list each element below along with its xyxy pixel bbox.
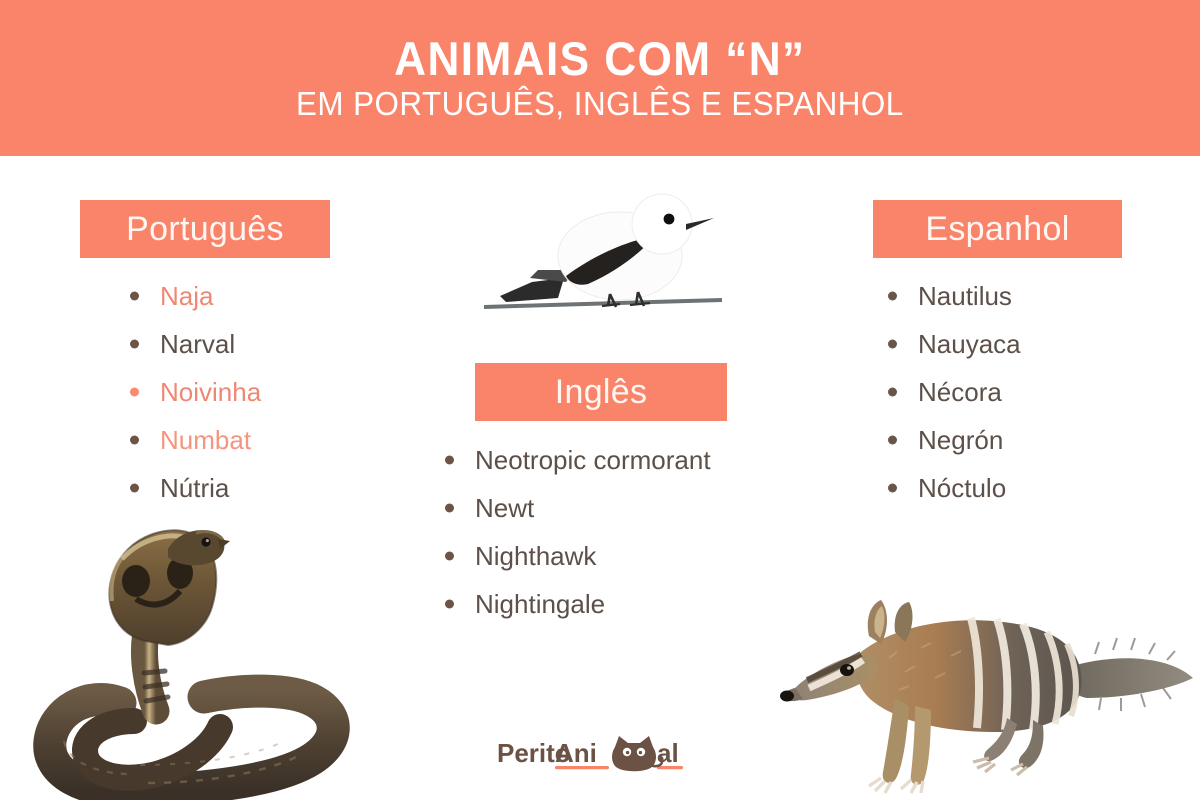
bullet-icon (445, 456, 454, 465)
white-bird-on-wire-photo (470, 178, 735, 343)
page-title: ANIMAIS COM “N” (394, 34, 805, 83)
list-item: Nútria (128, 475, 261, 501)
language-label-ingles: Inglês (475, 363, 727, 421)
numbat-photo (765, 548, 1200, 800)
bullet-icon (130, 340, 139, 349)
bullet-icon (445, 552, 454, 561)
word-label: Neotropic cormorant (475, 445, 711, 475)
cat-icon (612, 736, 662, 771)
bullet-icon (888, 340, 897, 349)
cobra-snake-photo (28, 515, 358, 800)
word-label: Nautilus (918, 281, 1012, 311)
bullet-icon (888, 436, 897, 445)
bullet-icon (445, 600, 454, 609)
list-item[interactable]: Numbat (128, 427, 261, 453)
bullet-icon (130, 436, 139, 445)
logo-text-ani: Ani (555, 738, 597, 768)
bullet-icon (888, 388, 897, 397)
list-item: Negrón (886, 427, 1021, 453)
list-item: Nautilus (886, 283, 1021, 309)
word-label: Nighthawk (475, 541, 596, 571)
list-item[interactable]: Naja (128, 283, 261, 309)
list-item[interactable]: Noivinha (128, 379, 261, 405)
infographic-page: ANIMAIS COM “N” EM PORTUGUÊS, INGLÊS E E… (0, 0, 1200, 800)
word-label: Nécora (918, 377, 1002, 407)
list-item: Narval (128, 331, 261, 357)
word-label: Nightingale (475, 589, 605, 619)
word-list-ingles: Neotropic cormorant Newt Nighthawk Night… (443, 447, 711, 639)
list-item: Nóctulo (886, 475, 1021, 501)
list-item: Nightingale (443, 591, 711, 617)
word-label: Nauyaca (918, 329, 1021, 359)
word-label: Nútria (160, 473, 229, 503)
list-item: Nauyaca (886, 331, 1021, 357)
bullet-icon (130, 388, 139, 397)
bullet-icon (888, 484, 897, 493)
header-banner: ANIMAIS COM “N” EM PORTUGUÊS, INGLÊS E E… (0, 0, 1200, 156)
list-item: Neotropic cormorant (443, 447, 711, 473)
list-item: Newt (443, 495, 711, 521)
language-label-espanhol: Espanhol (873, 200, 1122, 258)
bullet-icon (888, 292, 897, 301)
word-label[interactable]: Naja (160, 281, 213, 311)
list-item: Nécora (886, 379, 1021, 405)
perito-animal-logo[interactable]: Perito Ani al (497, 733, 693, 777)
word-label: Narval (160, 329, 235, 359)
word-list-espanhol: Nautilus Nauyaca Nécora Negrón Nóctulo (886, 283, 1021, 523)
word-label: Negrón (918, 425, 1003, 455)
bullet-icon (130, 484, 139, 493)
page-subtitle: EM PORTUGUÊS, INGLÊS E ESPANHOL (296, 87, 904, 122)
list-item: Nighthawk (443, 543, 711, 569)
word-label: Nóctulo (918, 473, 1006, 503)
word-label[interactable]: Numbat (160, 425, 251, 455)
language-label-portugues: Português (80, 200, 330, 258)
word-list-portugues: Naja Narval Noivinha Numbat Nútria (128, 283, 261, 523)
word-label[interactable]: Noivinha (160, 377, 261, 407)
word-label: Newt (475, 493, 534, 523)
bullet-icon (130, 292, 139, 301)
bullet-icon (445, 504, 454, 513)
